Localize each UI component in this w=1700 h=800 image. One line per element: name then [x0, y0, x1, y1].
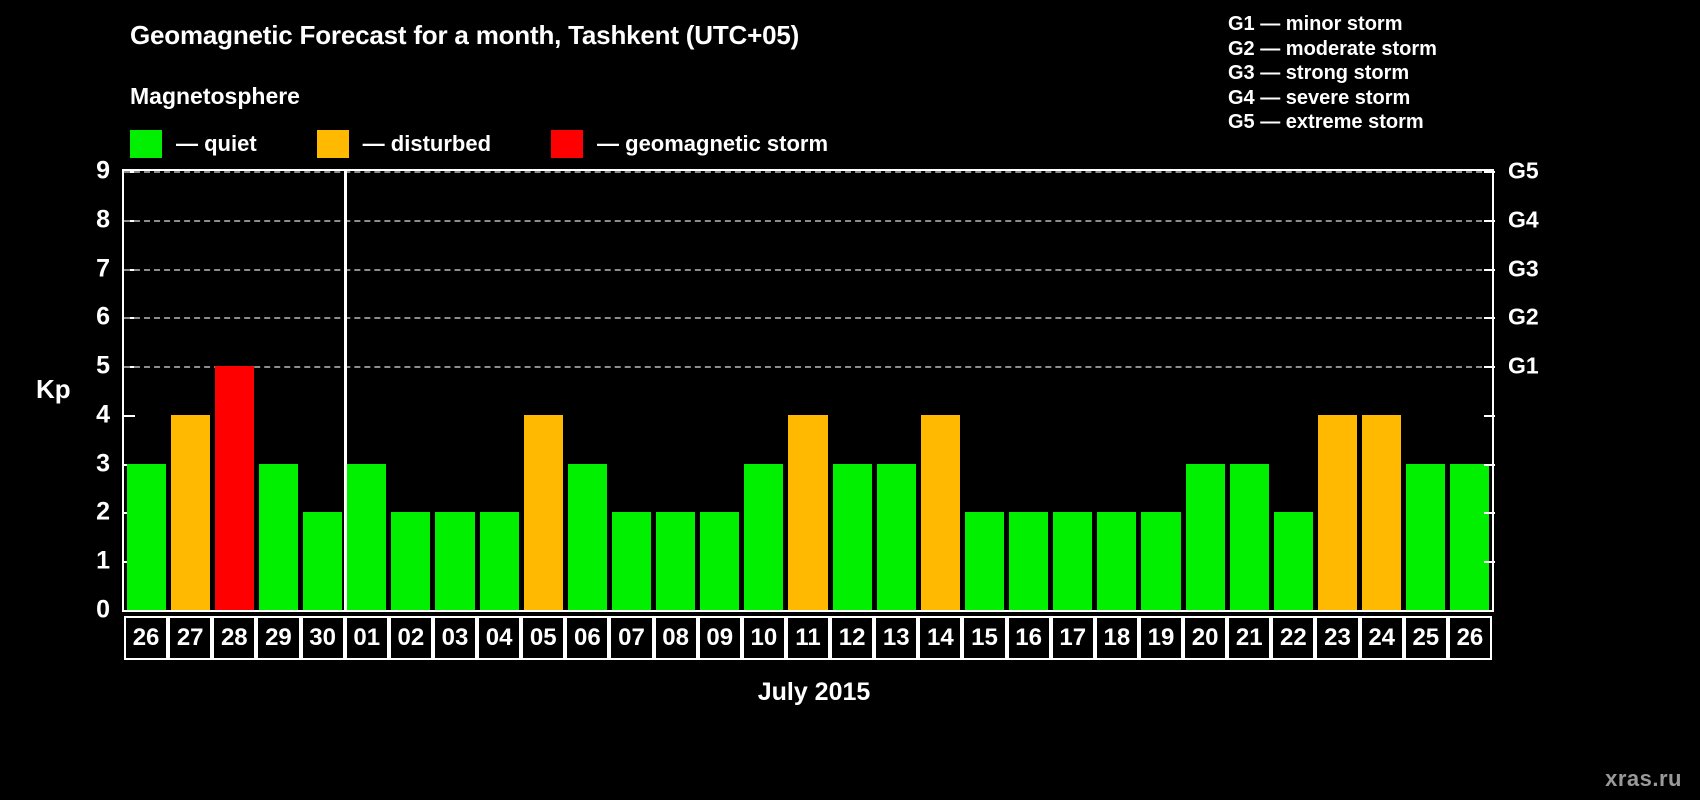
date-label-10: 06 — [565, 616, 609, 660]
month-divider-line — [344, 171, 347, 610]
g-scale-row-g4: G4 — severe storm — [1228, 86, 1437, 111]
bar-05 — [524, 415, 563, 610]
right-tick-mark-2 — [1484, 512, 1495, 514]
bar-24 — [1362, 415, 1401, 610]
right-tick-mark-8 — [1484, 220, 1495, 222]
legend-label-disturbed: — disturbed — [363, 131, 491, 157]
g-scale-row-g3: G3 — strong storm — [1228, 61, 1437, 86]
legend-item-disturbed: — disturbed — [317, 130, 491, 158]
page-title: Geomagnetic Forecast for a month, Tashke… — [130, 20, 799, 51]
bar-03 — [435, 512, 474, 610]
legend-swatch-quiet-icon — [130, 130, 162, 158]
g-axis-label-g5: G5 — [1508, 158, 1539, 185]
date-label-0: 26 — [124, 616, 168, 660]
g-axis-label-g3: G3 — [1508, 255, 1539, 282]
magnetosphere-legend: — quiet — disturbed — geomagnetic storm — [130, 130, 828, 158]
x-axis-date-labels: 2627282930010203040506070809101112131415… — [122, 616, 1490, 660]
bar-04 — [480, 512, 519, 610]
x-axis-title-text: July 2015 — [758, 678, 871, 707]
date-label-27: 23 — [1315, 616, 1359, 660]
watermark: xras.ru — [1605, 766, 1682, 792]
y-tick-label-2: 2 — [70, 498, 110, 527]
g-axis-label-g1: G1 — [1508, 353, 1539, 380]
y-axis-tick-labels: 0123456789 — [62, 169, 110, 612]
legend-item-storm: — geomagnetic storm — [551, 130, 828, 158]
date-label-11: 07 — [609, 616, 653, 660]
right-axis-g-labels: G1G2G3G4G5 — [1508, 169, 1568, 612]
y-tick-label-7: 7 — [70, 254, 110, 283]
g-axis-label-g2: G2 — [1508, 304, 1539, 331]
g-scale-legend: G1 — minor storm G2 — moderate storm G3 … — [1228, 12, 1437, 135]
date-label-24: 20 — [1183, 616, 1227, 660]
bar-13 — [877, 464, 916, 610]
bar-27 — [171, 415, 210, 610]
date-label-18: 14 — [918, 616, 962, 660]
bar-02 — [391, 512, 430, 610]
chart-plot-area — [122, 169, 1494, 612]
bar-07 — [612, 512, 651, 610]
bar-23 — [1318, 415, 1357, 610]
date-label-13: 09 — [698, 616, 742, 660]
bar-10 — [744, 464, 783, 610]
bar-21 — [1230, 464, 1269, 610]
date-label-5: 01 — [345, 616, 389, 660]
y-tick-label-4: 4 — [70, 400, 110, 429]
bar-19 — [1141, 512, 1180, 610]
date-label-7: 03 — [433, 616, 477, 660]
y-tick-label-0: 0 — [70, 596, 110, 625]
date-label-30: 26 — [1448, 616, 1492, 660]
right-tick-mark-6 — [1484, 317, 1495, 319]
right-tick-mark-4 — [1484, 415, 1495, 417]
bar-25 — [1406, 464, 1445, 610]
g-scale-row-g5: G5 — extreme storm — [1228, 110, 1437, 135]
chart-subtitle: Magnetosphere — [130, 83, 300, 110]
y-tick-label-6: 6 — [70, 303, 110, 332]
date-label-16: 12 — [830, 616, 874, 660]
date-label-3: 29 — [256, 616, 300, 660]
right-tick-mark-3 — [1484, 464, 1495, 466]
date-label-21: 17 — [1051, 616, 1095, 660]
legend-label-storm: — geomagnetic storm — [597, 131, 828, 157]
date-label-6: 02 — [389, 616, 433, 660]
legend-swatch-disturbed-icon — [317, 130, 349, 158]
y-tick-label-5: 5 — [70, 352, 110, 381]
y-tick-label-8: 8 — [70, 205, 110, 234]
bar-01 — [347, 464, 386, 610]
right-tick-mark-1 — [1484, 561, 1495, 563]
date-label-15: 11 — [786, 616, 830, 660]
y-tick-label-3: 3 — [70, 449, 110, 478]
bar-09 — [700, 512, 739, 610]
date-label-19: 15 — [962, 616, 1006, 660]
bar-18 — [1097, 512, 1136, 610]
date-label-22: 18 — [1095, 616, 1139, 660]
bar-16 — [1009, 512, 1048, 610]
bar-17 — [1053, 512, 1092, 610]
bar-30 — [303, 512, 342, 610]
g-scale-row-g1: G1 — minor storm — [1228, 12, 1437, 37]
date-label-1: 27 — [168, 616, 212, 660]
g-axis-label-g4: G4 — [1508, 206, 1539, 233]
bar-06 — [568, 464, 607, 610]
date-label-29: 25 — [1404, 616, 1448, 660]
right-tick-mark-9 — [1484, 171, 1495, 173]
date-label-17: 13 — [874, 616, 918, 660]
date-label-23: 19 — [1139, 616, 1183, 660]
chart-bars — [124, 171, 1492, 610]
y-tick-label-1: 1 — [70, 547, 110, 576]
x-axis-title: July 2015 — [0, 678, 1700, 707]
date-label-4: 30 — [301, 616, 345, 660]
bar-28 — [215, 366, 254, 610]
bar-20 — [1186, 464, 1225, 610]
right-tick-mark-7 — [1484, 269, 1495, 271]
date-label-8: 04 — [477, 616, 521, 660]
bar-29 — [259, 464, 298, 610]
date-label-26: 22 — [1271, 616, 1315, 660]
legend-item-quiet: — quiet — [130, 130, 257, 158]
date-label-25: 21 — [1227, 616, 1271, 660]
date-label-12: 08 — [654, 616, 698, 660]
g-scale-row-g2: G2 — moderate storm — [1228, 37, 1437, 62]
legend-label-quiet: — quiet — [176, 131, 257, 157]
bar-14 — [921, 415, 960, 610]
date-label-2: 28 — [212, 616, 256, 660]
date-label-9: 05 — [521, 616, 565, 660]
date-label-20: 16 — [1007, 616, 1051, 660]
bar-11 — [788, 415, 827, 610]
right-axis-tick-marks — [1483, 169, 1495, 612]
right-tick-mark-5 — [1484, 366, 1495, 368]
date-label-28: 24 — [1360, 616, 1404, 660]
bar-15 — [965, 512, 1004, 610]
bar-08 — [656, 512, 695, 610]
y-tick-label-9: 9 — [70, 157, 110, 186]
date-label-14: 10 — [742, 616, 786, 660]
legend-swatch-storm-icon — [551, 130, 583, 158]
bar-12 — [833, 464, 872, 610]
bar-26 — [127, 464, 166, 610]
bar-22 — [1274, 512, 1313, 610]
